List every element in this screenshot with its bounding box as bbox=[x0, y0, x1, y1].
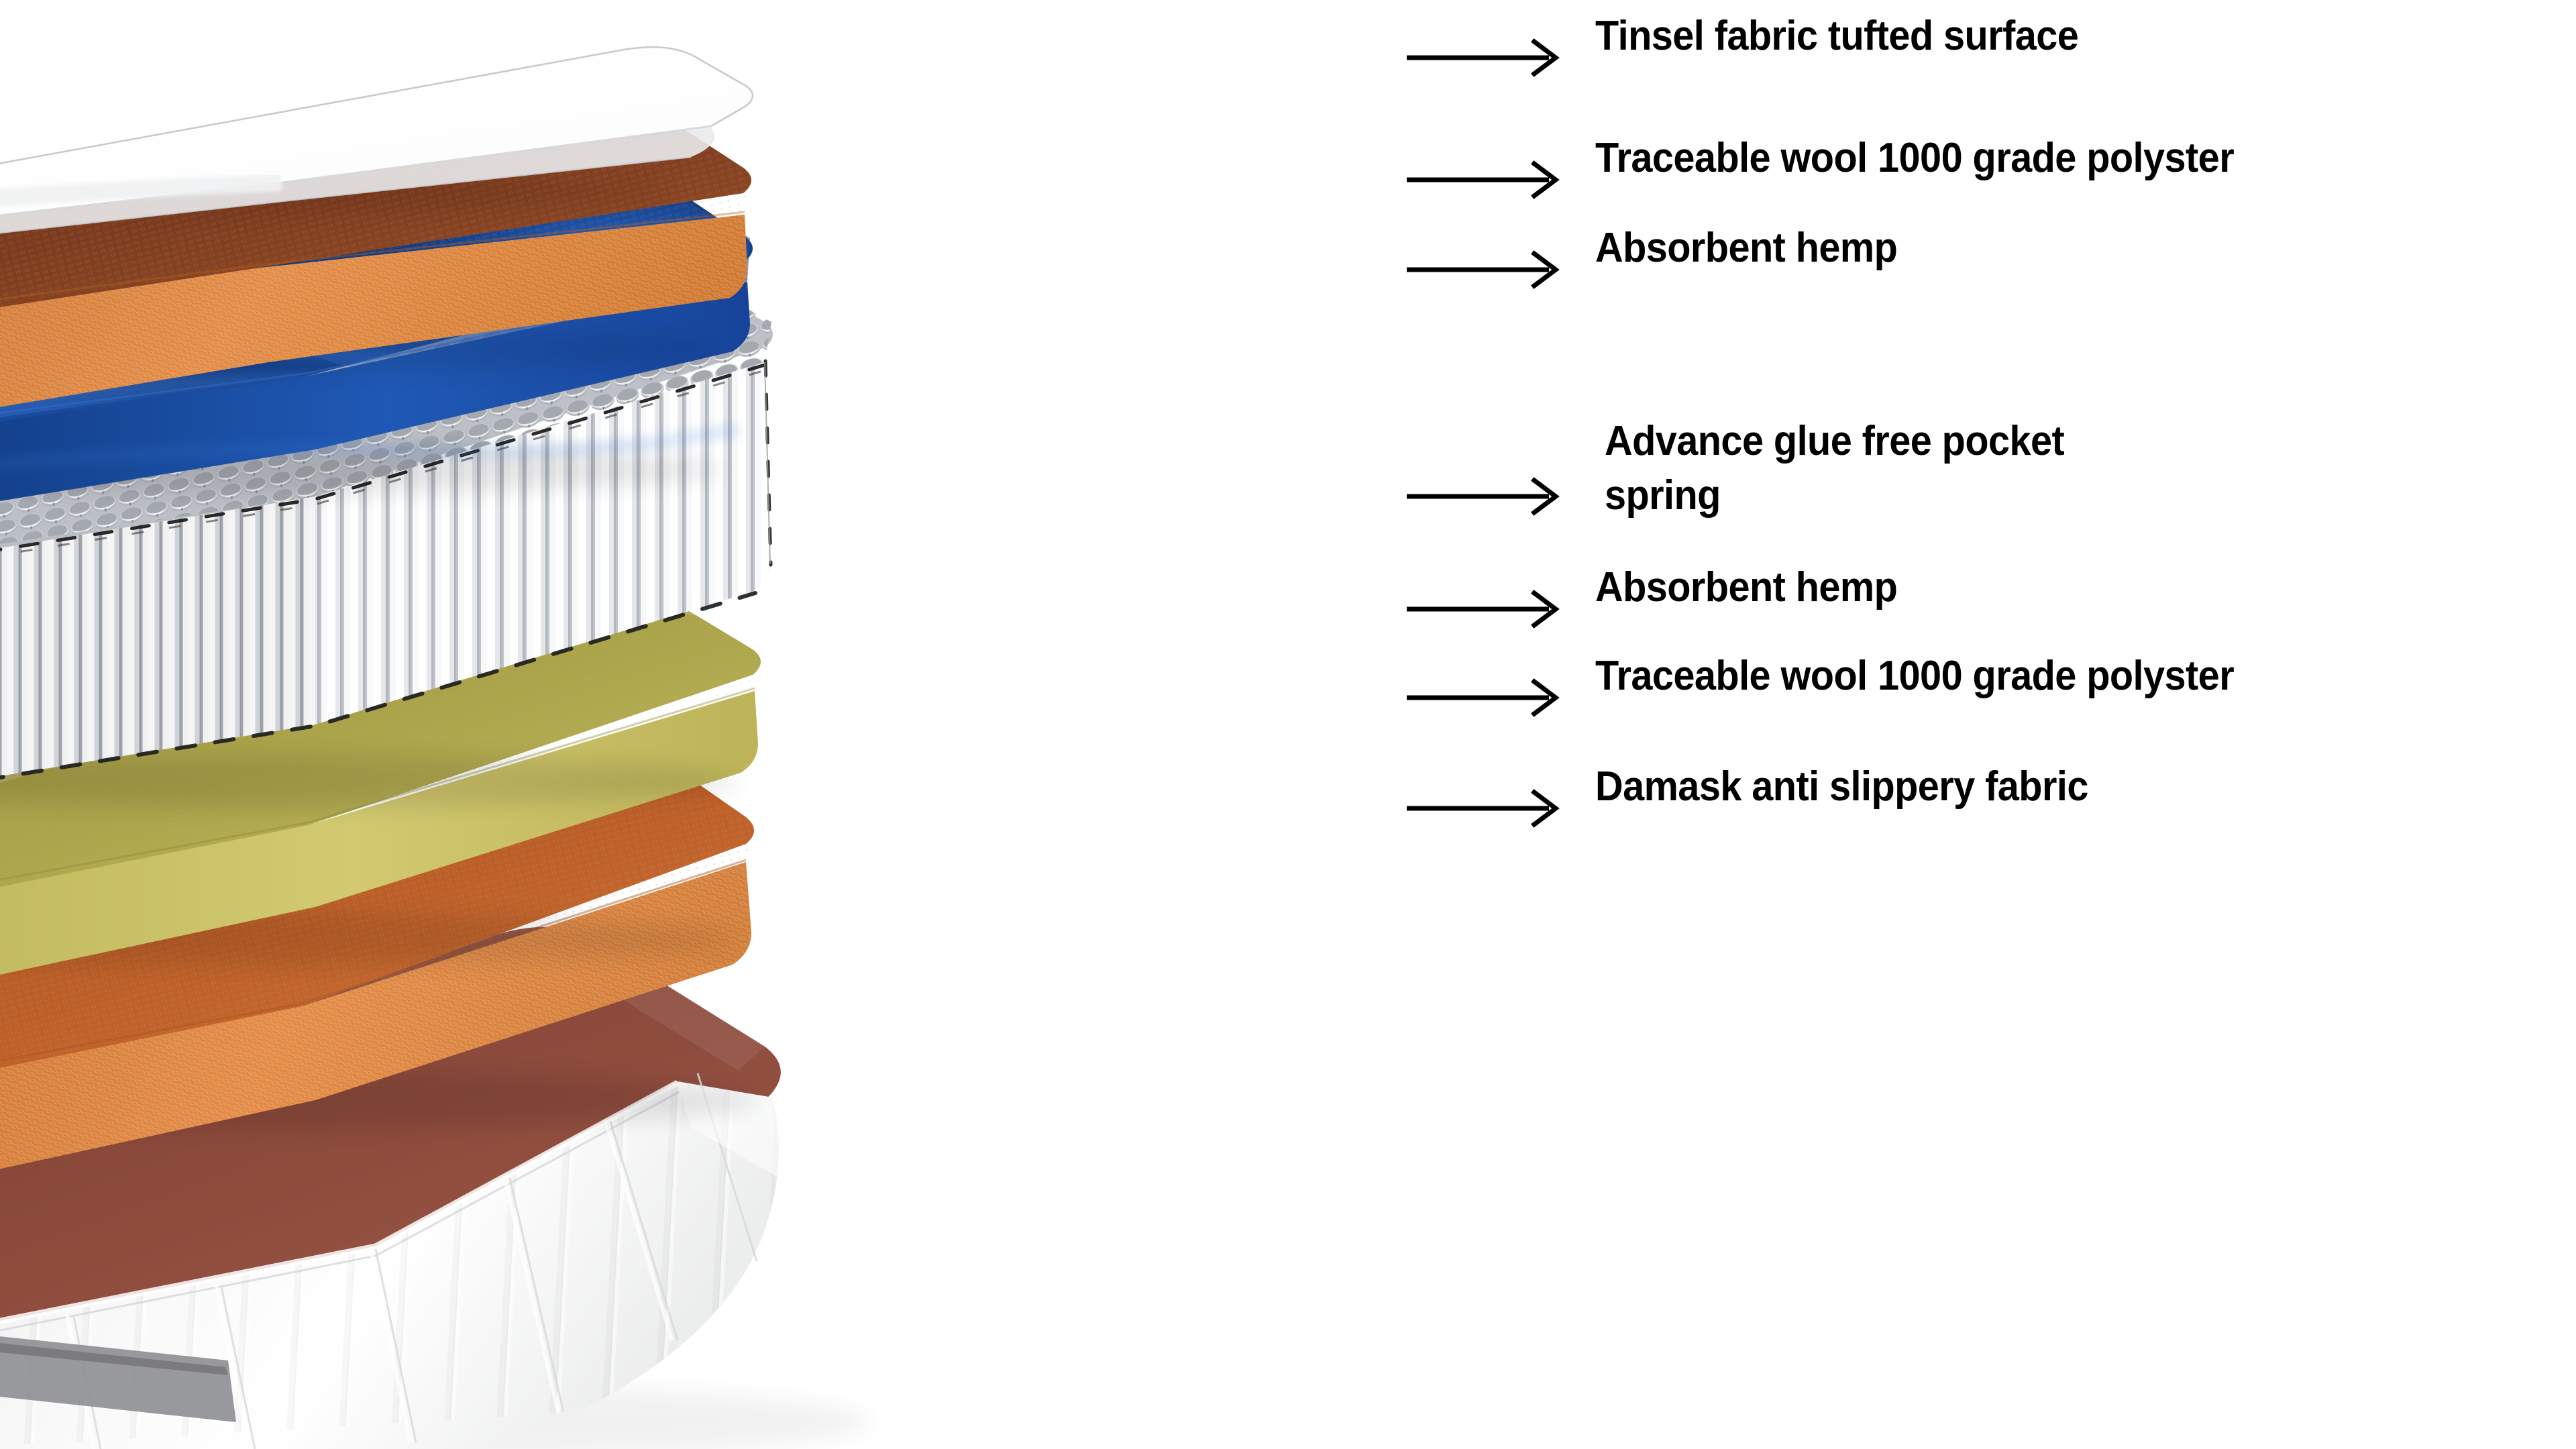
callout-label-pocket-spring: Advance glue free pocket spring bbox=[1605, 415, 2064, 523]
arrow-icon bbox=[1405, 788, 1566, 828]
callout-label-damask-fabric: Damask anti slippery fabric bbox=[1595, 760, 2088, 814]
callout-arrow-tinsel-fabric bbox=[1405, 38, 1566, 81]
callout-label-wool-poly-top: Traceable wool 1000 grade polyster bbox=[1595, 131, 2234, 186]
arrow-icon bbox=[1405, 476, 1566, 517]
callout-arrow-pocket-spring bbox=[1405, 476, 1566, 520]
arrow-icon bbox=[1405, 38, 1566, 78]
arrow-icon bbox=[1405, 678, 1566, 718]
callout-group: Tinsel fabric tufted surface Traceable w… bbox=[0, 0, 2576, 1449]
callout-arrow-hemp-bottom bbox=[1405, 589, 1566, 633]
callout-arrow-wool-poly-bottom bbox=[1405, 678, 1566, 721]
callout-label-wool-poly-bottom: Traceable wool 1000 grade polyster bbox=[1595, 649, 2234, 704]
arrow-icon bbox=[1405, 160, 1566, 200]
callout-label-tinsel-fabric: Tinsel fabric tufted surface bbox=[1595, 9, 2078, 64]
arrow-icon bbox=[1405, 250, 1566, 290]
callout-label-hemp-top: Absorbent hemp bbox=[1595, 221, 1897, 276]
callout-arrow-wool-poly-top bbox=[1405, 160, 1566, 203]
callout-arrow-damask-fabric bbox=[1405, 788, 1566, 832]
callout-arrow-hemp-top bbox=[1405, 250, 1566, 293]
callout-label-hemp-bottom: Absorbent hemp bbox=[1595, 561, 1897, 615]
arrow-icon bbox=[1405, 589, 1566, 629]
